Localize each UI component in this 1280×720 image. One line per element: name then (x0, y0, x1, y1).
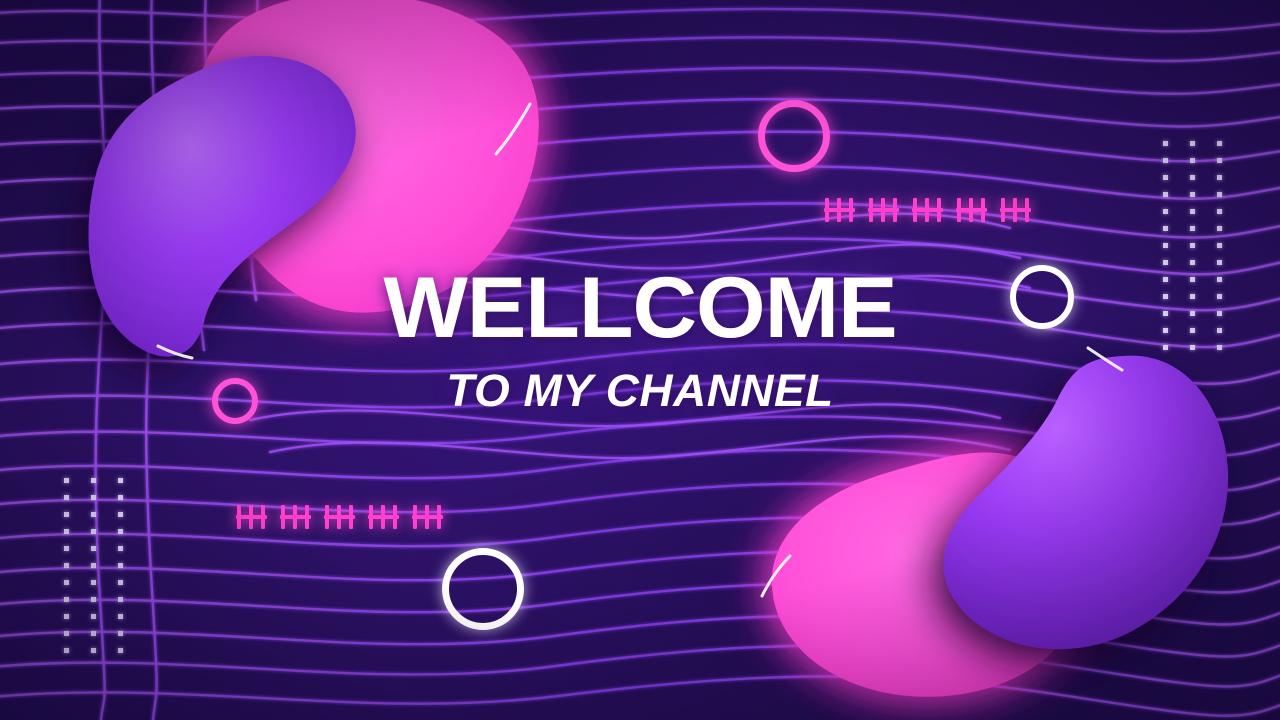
ring-white-mid (442, 548, 524, 630)
tally-group (868, 198, 899, 222)
tally-group (1000, 198, 1031, 222)
tally-group (824, 198, 855, 222)
page-title: WELLCOME (0, 268, 1280, 350)
tally-marks-top (824, 198, 1031, 222)
tally-group (912, 198, 943, 222)
tally-group (280, 505, 311, 529)
ring-pink-top (758, 100, 830, 172)
tally-group (412, 505, 443, 529)
tally-group (236, 505, 267, 529)
banner-canvas: WELLCOME TO MY CHANNEL (0, 0, 1280, 720)
tally-group (368, 505, 399, 529)
tally-marks-bottom (236, 505, 443, 529)
dot-grid-left (64, 478, 124, 653)
text-block: WELLCOME TO MY CHANNEL (0, 268, 1280, 413)
page-subtitle: TO MY CHANNEL (0, 368, 1280, 413)
tally-group (324, 505, 355, 529)
tally-group (956, 198, 987, 222)
